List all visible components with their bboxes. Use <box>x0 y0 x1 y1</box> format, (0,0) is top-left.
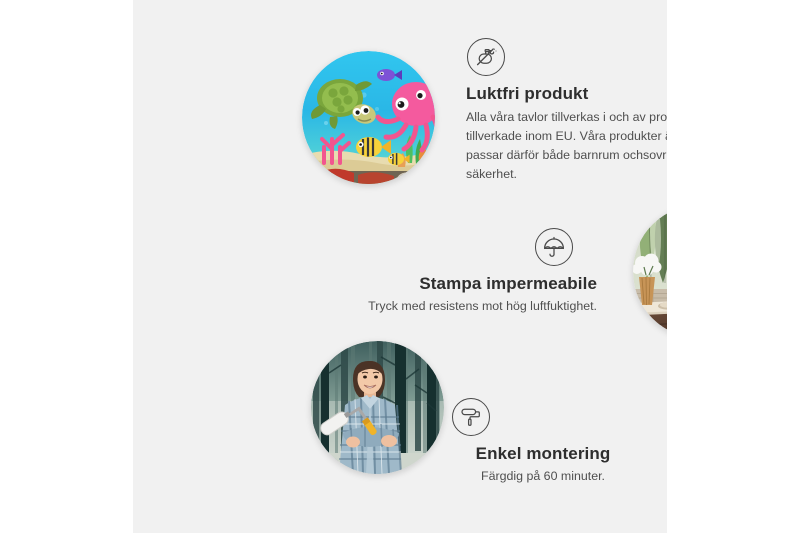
bathroom-vanity-photo <box>633 205 667 338</box>
feature-title: Enkel montering <box>443 443 643 464</box>
feature-body: Tryck med resistens mot hög luftfuktighe… <box>338 297 597 316</box>
feature-infographic-page: Luktfri produkt Alla våra tavlor tillver… <box>0 0 800 533</box>
underwater-cartoon-photo <box>302 51 435 184</box>
feature-title: Stampa impermeabile <box>338 273 597 294</box>
painter-woman-photo <box>311 341 444 474</box>
no-fragrance-icon <box>467 38 505 76</box>
content-panel: Luktfri produkt Alla våra tavlor tillver… <box>133 0 667 533</box>
paint-roller-icon <box>452 398 490 436</box>
feature-body: Alla våra tavlor tillverkas i och av pro… <box>466 108 667 183</box>
feature-body: Färgdig på 60 minuter. <box>443 467 643 486</box>
feature-odour-free: Luktfri produkt Alla våra tavlor tillver… <box>466 38 667 184</box>
feature-title: Luktfri produkt <box>466 83 667 104</box>
umbrella-icon <box>535 228 573 266</box>
feature-waterproof-print: Stampa impermeabile Tryck med resistens … <box>338 228 597 316</box>
feature-easy-mounting: Enkel montering Färgdig på 60 minuter. <box>443 398 643 486</box>
